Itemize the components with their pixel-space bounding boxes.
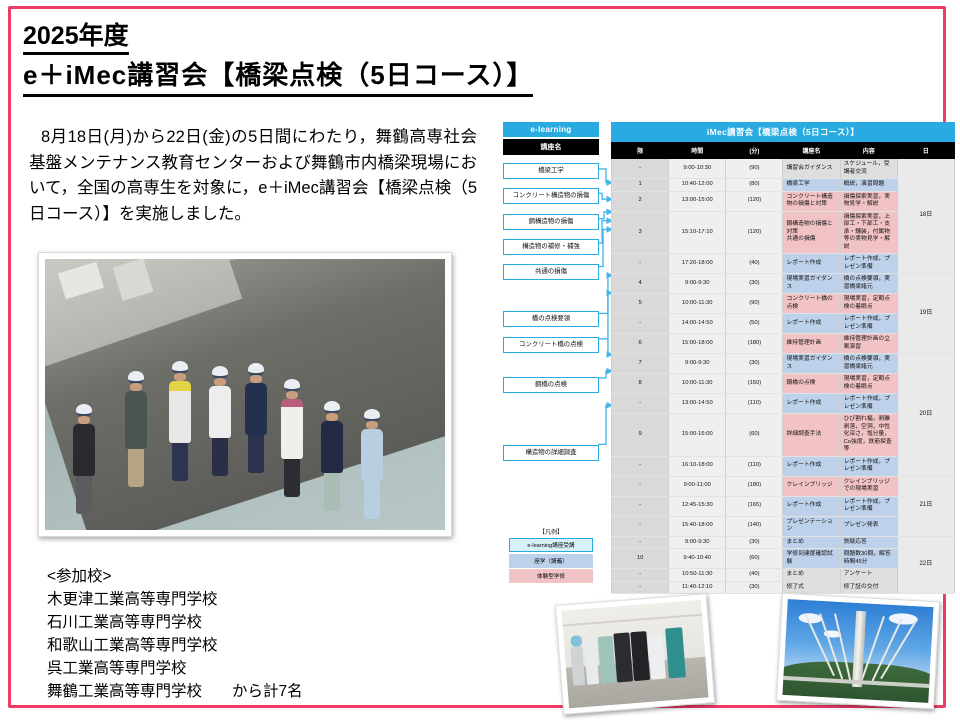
cell-time: 9:00-11:00 [669,476,726,496]
cell-minutes: (30) [726,274,783,294]
cell-no: - [612,536,669,549]
cell-content: レポート作成，プレゼン準備 [840,456,897,476]
suitcases-photo [555,593,715,715]
cell-no: - [612,159,669,179]
cell-no: - [612,394,669,414]
legend-item-lecture: 座学（講義） [509,554,593,568]
cell-content: 維持管理計画の立案演習 [840,334,897,354]
cell-no: 6 [612,334,669,354]
cell-no: - [612,516,669,536]
elearning-item-5[interactable]: 橋の点検要領 [503,311,599,327]
cell-time: 17:20-18:00 [669,254,726,274]
participants-heading: <参加校> [47,565,303,588]
person-2 [125,371,147,487]
cell-course-name: 現場実習ガイダンス [783,274,840,294]
slide-frame: 2025年度 e＋iMec講習会【橋梁点検（5日コース）】 8月18日(月)から… [8,6,946,708]
cell-time: 10:00-11:30 [669,294,726,314]
cell-course-name: コンクリート構造物の損傷と対策 [783,191,840,211]
cell-content: 損傷探索実習，上部工・下部工・支承・舗装，付属物等の実物見学・解説 [840,211,897,254]
group-photo-image [45,259,445,530]
bridge-photo-image [782,599,933,703]
cell-day: 18日 [897,159,954,274]
cell-minutes: (90) [726,294,783,314]
col-header-minutes: (分) [726,143,783,159]
participants-total: から計7名 [232,680,303,703]
school-item: 石川工業高等専門学校 [47,611,303,634]
cell-minutes: (60) [726,549,783,569]
cell-minutes: (180) [726,476,783,496]
cell-content: 橋の点検要領，実習橋梁諸元 [840,274,897,294]
cell-content: 橋の点検要領，実習橋梁諸元 [840,354,897,374]
cell-course-name: コンクリート橋の点検 [783,294,840,314]
elearning-item-2[interactable]: 鋼構造物の損傷 [503,214,599,230]
cell-course-name: まとめ [783,536,840,549]
elearning-item-7[interactable]: 鋼橋の点検 [503,377,599,393]
elearning-header: e-learning [503,122,599,137]
cell-course-name: 鋼構造物の損傷と対策共通の損傷 [783,211,840,254]
school-item: 木更津工業高等専門学校 [47,588,303,611]
cell-course-name: 橋梁工学 [783,179,840,192]
schedule-grid: 限 時間 (分) 講座名 内容 日 -9:00-10:30(90)講習会ガイダン… [611,142,955,594]
cell-no: - [612,456,669,476]
cell-course-name: まとめ [783,569,840,582]
legend-title: 【凡例】 [509,527,593,536]
cell-content: 修了証の交付 [840,581,897,594]
cell-day: 21日 [897,476,954,536]
cell-content: レポート作成，プレゼン準備 [840,314,897,334]
cell-minutes: (90) [726,159,783,179]
cell-minutes: (40) [726,254,783,274]
cell-course-name: レポート作成 [783,496,840,516]
cell-minutes: (140) [726,516,783,536]
elearning-item-8[interactable]: 構造物の詳細調査 [503,445,599,461]
table-row: 49:00-9:30(30)現場実習ガイダンス橋の点検要領，実習橋梁諸元19日 [612,274,955,294]
cell-no: - [612,314,669,334]
cell-minutes: (180) [726,334,783,354]
cell-minutes: (60) [726,414,783,457]
title-line-1: 2025年度 [23,21,129,55]
cell-no: - [612,569,669,582]
cell-minutes: (80) [726,179,783,192]
table-header-row: 限 時間 (分) 講座名 内容 日 [612,143,955,159]
group-photo [38,252,452,537]
page-title: 2025年度 e＋iMec講習会【橋梁点検（5日コース）】 [23,21,493,97]
cell-time: 10:00-11:30 [669,374,726,394]
cell-content: レポート作成，プレゼン準備 [840,254,897,274]
school-item: 和歌山工業高等専門学校 [47,634,303,657]
cell-no: - [612,254,669,274]
cell-time: 15:10-17:10 [669,211,726,254]
person-7 [321,401,343,511]
cell-minutes: (110) [726,456,783,476]
col-header-content: 内容 [840,143,897,159]
cell-course-name: 維持管理計画 [783,334,840,354]
cell-time: 10:40-12:00 [669,179,726,192]
cell-content: 問題数30問，解答時間45分 [840,549,897,569]
cell-minutes: (120) [726,191,783,211]
cell-content: 質疑応答 [840,536,897,549]
person-5 [245,363,267,473]
cell-content: アンケート [840,569,897,582]
cell-content: 概説，演習問題 [840,179,897,192]
person-4 [209,366,231,476]
cell-no: - [612,476,669,496]
cell-time: 15:00-18:00 [669,334,726,354]
cell-minutes: (110) [726,394,783,414]
legend: 【凡例】 e-learning講座受講 座学（講義） 体験型学修 [509,527,593,585]
cell-no: 7 [612,354,669,374]
connector-arrows [503,122,623,542]
cell-course-name: 鋼橋の点検 [783,374,840,394]
description-text: 8月18日(月)から22日(金)の5日間にわたり，舞鶴高専社会基盤メンテナンス教… [29,128,477,223]
cell-time: 15:00-16:00 [669,414,726,457]
cell-no: 8 [612,374,669,394]
elearning-item-6[interactable]: コンクリート橋の点検 [503,337,599,353]
cell-time: 9:00-9:30 [669,354,726,374]
school-name: 舞鶴工業高等専門学校 [47,683,202,700]
cell-time: 14:00-14:50 [669,314,726,334]
table-row: -9:00-10:30(90)講習会ガイダンススケジュール，受講者交流18日 [612,159,955,179]
cell-time: 9:00-10:30 [669,159,726,179]
table-row: -9:00-9:30(30)まとめ質疑応答22日 [612,536,955,549]
description-paragraph: 8月18日(月)から22日(金)の5日間にわたり，舞鶴高専社会基盤メンテナンス教… [29,125,477,227]
legend-item-experience: 体験型学修 [509,569,593,583]
cell-course-name: 詳細調査手法 [783,414,840,457]
cell-content: プレゼン発表 [840,516,897,536]
cell-course-name: 学修到達度確認試験 [783,549,840,569]
cell-day: 19日 [897,274,954,354]
table-row: -9:00-11:00(180)クレインブリッジクレインブリッジでの現場実習21… [612,476,955,496]
cell-time: 12:45-15:30 [669,496,726,516]
cell-minutes: (30) [726,354,783,374]
col-header-time: 時間 [669,143,726,159]
cell-minutes: (30) [726,536,783,549]
person-6 [281,379,303,497]
cell-content: レポート作成，プレゼン準備 [840,496,897,516]
schedule-title: iMec講習会【橋梁点検（5日コース）】 [611,122,955,142]
school-item-last: 舞鶴工業高等専門学校から計7名 [47,680,303,703]
elearning-item-0[interactable]: 橋梁工学 [503,163,599,179]
elearning-column: e-learning 講座名 [503,122,599,155]
cell-course-name: 講習会ガイダンス [783,159,840,179]
table-row: 79:00-9:30(30)現場実習ガイダンス橋の点検要領，実習橋梁諸元20日 [612,354,955,374]
cell-content: クレインブリッジでの現場実習 [840,476,897,496]
cell-time: 11:40-12:10 [669,581,726,594]
cell-course-name: 修了式 [783,581,840,594]
cell-course-name: 現場実習ガイダンス [783,354,840,374]
cell-time: 16:10-18:00 [669,456,726,476]
cell-no: 1 [612,179,669,192]
cell-time: 9:00-9:30 [669,536,726,549]
bridge-photo [776,593,940,710]
cell-course-name: レポート作成 [783,314,840,334]
cell-minutes: (30) [726,581,783,594]
cell-content: レポート作成，プレゼン準備 [840,394,897,414]
cell-time: 13:00-14:50 [669,394,726,414]
school-item: 呉工業高等専門学校 [47,657,303,680]
cell-minutes: (165) [726,496,783,516]
participating-schools: <参加校> 木更津工業高等専門学校 石川工業高等専門学校 和歌山工業高等専門学校… [47,565,303,703]
cell-time: 9:00-9:30 [669,274,726,294]
cell-no: 3 [612,211,669,254]
cell-time: 15:40-18:00 [669,516,726,536]
schedule-table: iMec講習会【橋梁点検（5日コース）】 限 時間 (分) 講座名 内容 日 -… [611,122,955,594]
cell-no: - [612,581,669,594]
cell-course-name: レポート作成 [783,456,840,476]
col-header-name: 講座名 [783,143,840,159]
cell-course-name: プレゼンテーション [783,516,840,536]
cell-day: 20日 [897,354,954,477]
cell-content: 現場実習，定期点検の着眼点 [840,294,897,314]
title-line-2: e＋iMec講習会【橋梁点検（5日コース）】 [23,58,533,97]
cell-content: ひび割れ幅，剥離剥落，空洞，中性化深さ，塩分量，Co強度，鉄筋探査等 [840,414,897,457]
legend-item-elearning: e-learning講座受講 [509,538,593,552]
cell-content: スケジュール，受講者交流 [840,159,897,179]
person-1 [73,404,95,514]
cell-course-name: レポート作成 [783,254,840,274]
suitcases-photo-image [561,600,708,709]
cell-no: 10 [612,549,669,569]
cell-course-name: クレインブリッジ [783,476,840,496]
cell-time: 9:40-10:40 [669,549,726,569]
cell-minutes: (120) [726,211,783,254]
schedule-body: -9:00-10:30(90)講習会ガイダンススケジュール，受講者交流18日11… [612,159,955,594]
cell-content: 損傷探索実習，実物見学・解説 [840,191,897,211]
elearning-subheader: 講座名 [503,139,599,155]
cell-time: 10:50-11:30 [669,569,726,582]
cell-content: 現場実習，定期点検の着眼点 [840,374,897,394]
cell-day: 22日 [897,536,954,594]
cell-minutes: (50) [726,314,783,334]
elearning-item-4[interactable]: 共通の損傷 [503,264,599,280]
person-3 [169,361,191,481]
cell-time: 13:00-15:00 [669,191,726,211]
cell-no: - [612,496,669,516]
cell-no: 9 [612,414,669,457]
cell-no: 5 [612,294,669,314]
cell-minutes: (150) [726,374,783,394]
person-8 [361,409,383,519]
elearning-item-3[interactable]: 構造物の補修・補強 [503,239,599,255]
cell-no: 4 [612,274,669,294]
cell-course-name: レポート作成 [783,394,840,414]
col-header-day: 日 [897,143,954,159]
elearning-item-1[interactable]: コンクリート構造物の損傷 [503,188,599,204]
cell-no: 2 [612,191,669,211]
curriculum-panel: e-learning 講座名 橋梁工学 コンクリート構造物の損傷 鋼構造物の損傷… [503,122,955,580]
col-header-no: 限 [612,143,669,159]
cell-minutes: (40) [726,569,783,582]
